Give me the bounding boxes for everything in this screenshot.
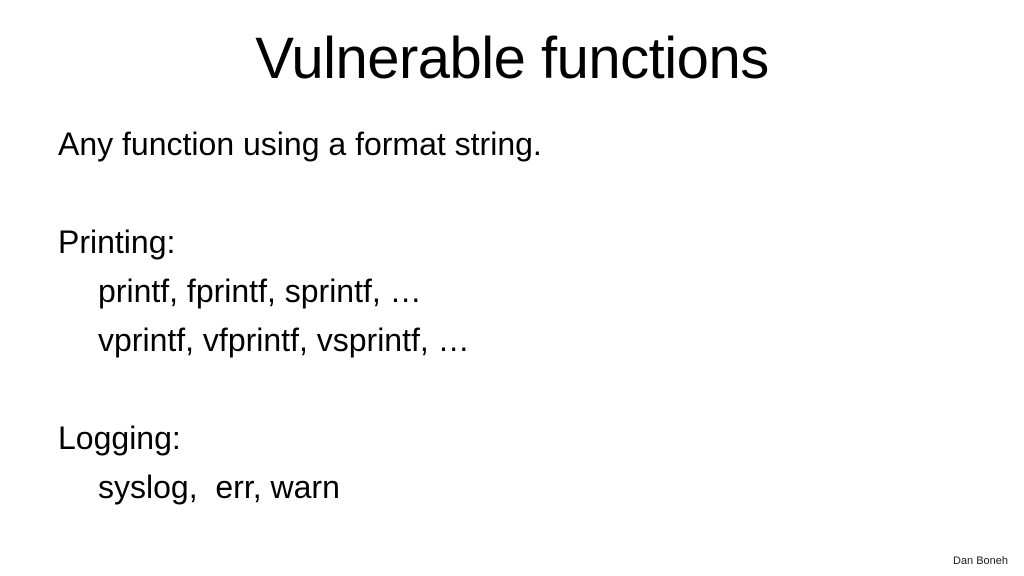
list-item: syslog, err, warn <box>58 463 958 512</box>
slide-body: Any function using a format string. Prin… <box>58 120 958 512</box>
blank-line-1 <box>58 169 958 218</box>
footer-credit: Dan Boneh <box>953 554 1008 568</box>
page-title: Vulnerable functions <box>0 28 1024 91</box>
section-heading-logging: Logging: <box>58 414 958 463</box>
blank-line-2 <box>58 365 958 414</box>
slide: Vulnerable functions Any function using … <box>0 0 1024 576</box>
section-heading-printing: Printing: <box>58 218 958 267</box>
list-item: printf, fprintf, sprintf, … <box>58 267 958 316</box>
list-item: vprintf, vfprintf, vsprintf, … <box>58 316 958 365</box>
intro-line: Any function using a format string. <box>58 120 958 169</box>
